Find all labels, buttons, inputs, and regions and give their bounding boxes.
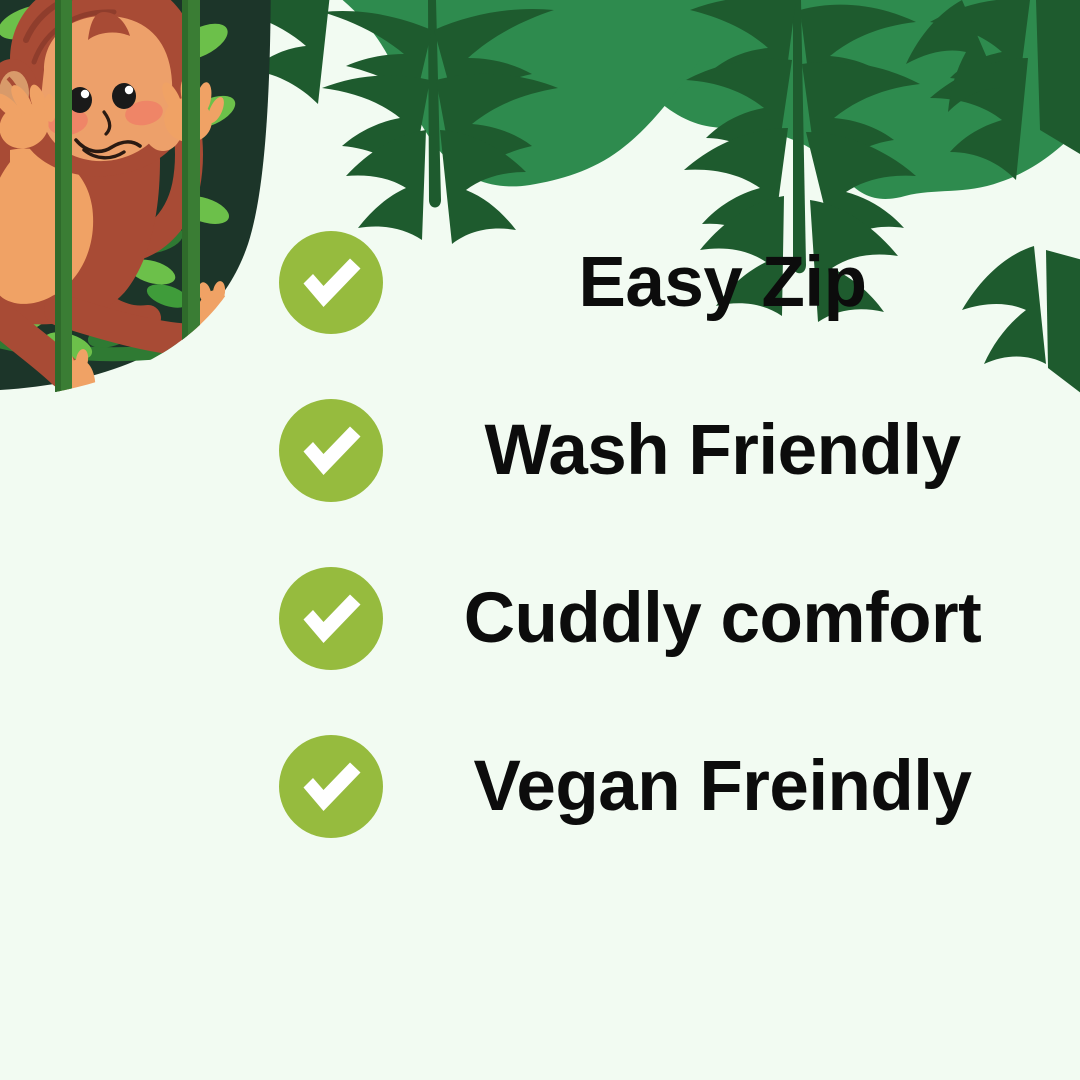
feature-row: Cuddly comfort	[0, 567, 1080, 670]
feature-list: Easy Zip Wash Friendly Cuddly comfort	[0, 231, 1080, 838]
monkey-ear-right	[143, 101, 183, 151]
feature-row: Wash Friendly	[0, 399, 1080, 502]
monkey-ear-left	[0, 59, 38, 125]
feature-label: Vegan Freindly	[413, 751, 1032, 822]
palm-frond-cluster-a	[322, 0, 558, 244]
palm-frond-cluster-e	[906, 0, 1000, 112]
feature-label: Wash Friendly	[413, 415, 1032, 486]
monkey-eyes	[68, 83, 136, 113]
check-icon	[279, 399, 383, 502]
monkey-hand-left	[0, 82, 57, 156]
check-icon	[279, 735, 383, 838]
check-icon	[279, 567, 383, 670]
palm-frond-cluster-d	[234, 0, 330, 104]
feature-row: Vegan Freindly	[0, 735, 1080, 838]
monkey-hand-right	[158, 76, 227, 148]
feature-label: Cuddly comfort	[413, 583, 1032, 654]
feature-row: Easy Zip	[0, 231, 1080, 334]
check-icon	[279, 231, 383, 334]
feature-label: Easy Zip	[413, 247, 1032, 318]
feature-highlight-card: Easy Zip Wash Friendly Cuddly comfort	[0, 0, 1080, 1080]
canopy-backdrop-shape	[300, 0, 1080, 199]
